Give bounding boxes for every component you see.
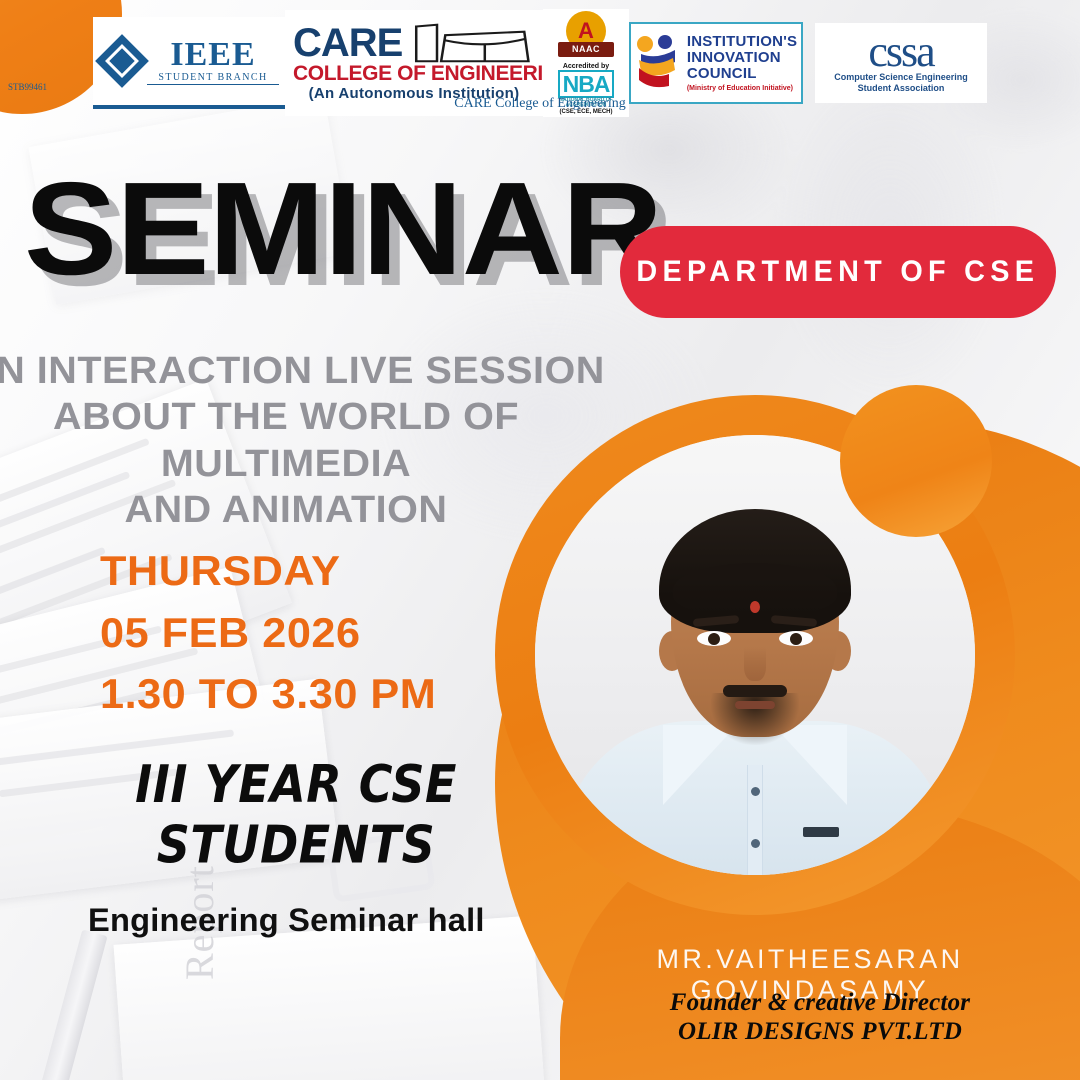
cssa-full-name-line-2: Student Association [858,83,945,93]
event-day: THURSDAY [100,540,436,602]
target-audience: III YEAR CSE STUDENTS [96,754,496,876]
naac-grade: A [578,20,594,42]
poster-headline: SEMINAR [24,168,662,289]
cssa-wordmark: cssa [868,33,933,71]
event-schedule: THURSDAY 05 FEB 2026 1.30 TO 3.30 PM [100,540,436,725]
audience-line-2: STUDENTS [96,815,496,876]
care-wordmark: CARE [293,24,402,62]
iic-line-3: COUNCIL [687,66,797,82]
ieee-college-name: CARE College of Engineering [0,96,1080,112]
logo-strip: IEEE STUDENT BRANCH STB99461 CARE Colleg… [0,8,1080,118]
event-venue: Engineering Seminar hall [88,902,485,939]
orange-accent-dot [840,385,992,537]
care-college-of-engineering-label: COLLEGE OF ENGINEERING [293,63,535,85]
speaker-company-line: OLIR DESIGNS PVT.LTD [600,1017,1040,1046]
ieee-branch-code: STB99461 [8,82,47,92]
iic-line-2: INNOVATION [687,50,797,66]
nba-accredited-by-label: Accredited by [545,63,627,70]
ieee-diamond-icon [95,34,149,88]
iic-ministry-label: (Ministry of Education Initiative) [687,85,797,93]
naac-badge-icon: A NAAC [558,11,614,59]
speaker-designation: Founder & creative Director OLIR DESIGNS… [600,988,1040,1046]
ieee-student-branch-logo: IEEE STUDENT BRANCH STB99461 CARE Colleg… [93,17,285,109]
ieee-student-branch-label: STUDENT BRANCH [147,73,279,85]
poster-subtitle: AN INTERACTION LIVE SESSION ABOUT THE WO… [0,348,608,533]
subtitle-line-1: AN INTERACTION LIVE SESSION [0,348,608,394]
subtitle-line-3: AND ANIMATION [0,487,608,533]
iic-line-1: INSTITUTION'S [687,34,797,50]
speaker-role-line: Founder & creative Director [600,988,1040,1017]
ieee-wordmark: IEEE [147,38,279,72]
department-badge-label: DEPARTMENT OF CSE [637,255,1040,289]
cssa-logo: cssa Computer Science Engineering Studen… [815,23,987,103]
department-badge: DEPARTMENT OF CSE [620,226,1056,318]
cssa-full-name-line-1: Computer Science Engineering [834,72,968,82]
institutions-innovation-council-logo: INSTITUTION'S INNOVATION COUNCIL (Minist… [629,22,803,104]
subtitle-line-2: ABOUT THE WORLD OF MULTIMEDIA [0,394,608,487]
iic-figures-icon [635,34,681,92]
event-time: 1.30 TO 3.30 PM [100,663,436,725]
event-date: 05 FEB 2026 [100,602,436,664]
care-building-icon [410,23,535,63]
naac-label: NAAC [558,42,614,57]
audience-line-1: III YEAR CSE [96,754,496,815]
nba-wordmark: NBA [558,70,615,98]
seminar-poster: Report [0,0,1080,1080]
